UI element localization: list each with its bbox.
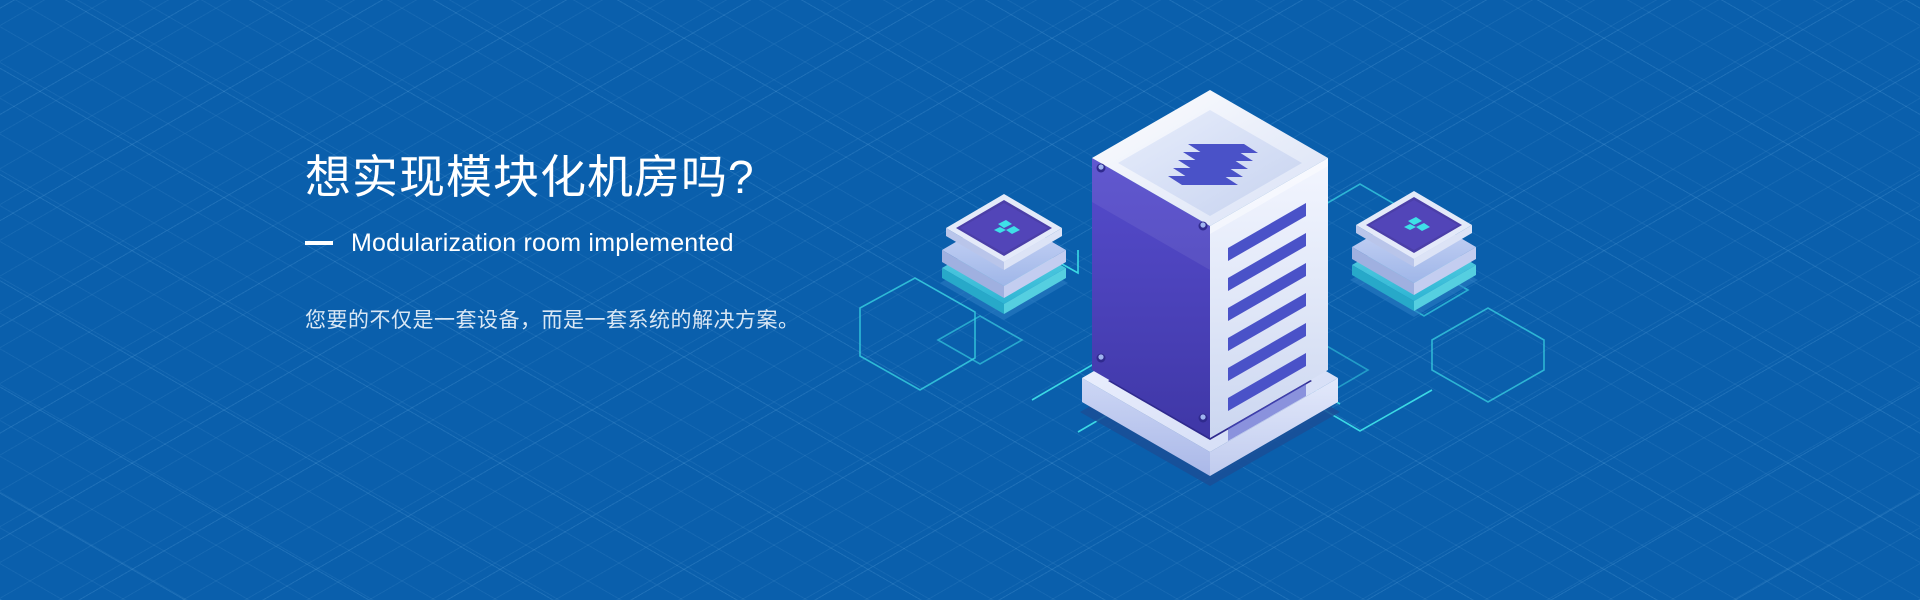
chip-module-left: [940, 194, 1068, 320]
chip-module-right: [1350, 191, 1478, 317]
hero-banner: 想实现模块化机房吗? Modularization room implement…: [0, 0, 1920, 600]
dash-marker-icon: [305, 241, 333, 245]
server-tower: [1092, 90, 1328, 441]
subtitle-english: Modularization room implemented: [351, 229, 734, 258]
isometric-server-illustration: [820, 40, 1600, 560]
